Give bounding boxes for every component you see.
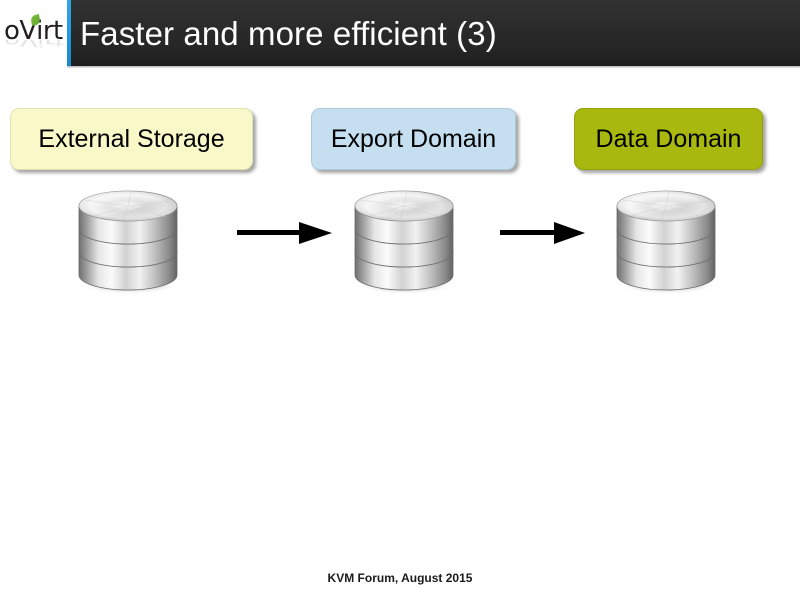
header-underline [67, 66, 800, 68]
node-box-export-domain: Export Domain [311, 108, 516, 170]
node-label-export-domain: Export Domain [331, 125, 496, 154]
database-cylinder-icon [349, 186, 459, 294]
page-title: Faster and more efficient (3) [80, 8, 780, 60]
node-box-external-storage: External Storage [10, 108, 253, 170]
arrow-right-icon [237, 218, 332, 248]
header-accent-bar [67, 0, 71, 66]
database-cylinder-icon [73, 186, 183, 294]
slide-footer: KVM Forum, August 2015 [0, 571, 800, 585]
arrow-right-icon [500, 218, 585, 248]
database-cylinder-icon [611, 186, 721, 294]
node-box-data-domain: Data Domain [574, 108, 763, 170]
node-label-external-storage: External Storage [38, 125, 224, 154]
ovirt-logo: oVirt [4, 14, 66, 48]
node-label-data-domain: Data Domain [596, 125, 742, 154]
